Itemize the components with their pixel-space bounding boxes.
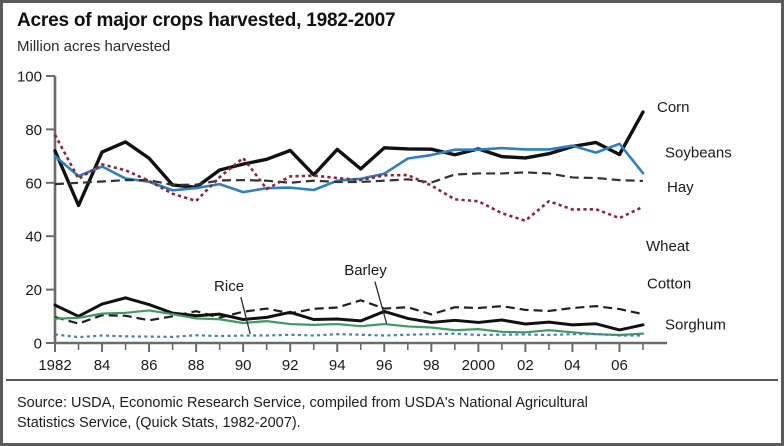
source-note: Source: USDA, Economic Research Service,… [17, 393, 767, 433]
x-tick-label: 02 [517, 357, 534, 371]
y-tick-label: 0 [34, 336, 42, 353]
series-line-corn [55, 112, 643, 205]
leader-line-rice [241, 297, 250, 334]
x-tick-label: 98 [423, 357, 440, 371]
y-tick-label: 60 [25, 175, 42, 192]
line-chart-svg: 0204060801001982848688909294969820000204… [3, 61, 781, 371]
series-label-soybeans: Soybeans [665, 144, 732, 161]
x-tick-label: 84 [94, 357, 111, 371]
chart-header: Acres of major crops harvested, 1982-200… [17, 9, 771, 56]
page-title: Acres of major crops harvested, 1982-200… [17, 9, 771, 33]
x-tick-label: 90 [235, 357, 252, 371]
series-label-wheat: Wheat [646, 238, 690, 255]
series-label-corn: Corn [657, 99, 690, 116]
series-label-hay: Hay [667, 179, 694, 196]
series-label-cotton: Cotton [647, 275, 691, 292]
leader-line-barley [375, 282, 387, 324]
x-tick-label: 1982 [38, 357, 71, 371]
source-line-1: Source: USDA, Economic Research Service,… [17, 393, 767, 413]
footer-divider [6, 379, 778, 381]
chart-subtitle: Million acres harvested [17, 37, 771, 56]
series-label-rice: Rice [214, 278, 244, 295]
source-line-2: Statistics Service, (Quick Stats, 1982-2… [17, 413, 767, 433]
plot-area: 0204060801001982848688909294969820000204… [3, 61, 781, 371]
y-tick-label: 100 [17, 69, 42, 86]
series-line-rice [55, 334, 643, 337]
series-label-barley: Barley [344, 262, 387, 279]
x-tick-label: 94 [329, 357, 346, 371]
x-tick-label: 06 [611, 357, 628, 371]
x-tick-label: 86 [141, 357, 158, 371]
x-tick-label: 2000 [462, 357, 495, 371]
chart-figure: Acres of major crops harvested, 1982-200… [0, 0, 784, 446]
y-tick-label: 40 [25, 229, 42, 246]
x-tick-label: 88 [188, 357, 205, 371]
series-label-sorghum: Sorghum [665, 317, 726, 334]
x-tick-label: 04 [564, 357, 581, 371]
x-tick-label: 96 [376, 357, 393, 371]
y-tick-label: 20 [25, 282, 42, 299]
y-tick-label: 80 [25, 122, 42, 139]
x-tick-label: 92 [282, 357, 299, 371]
